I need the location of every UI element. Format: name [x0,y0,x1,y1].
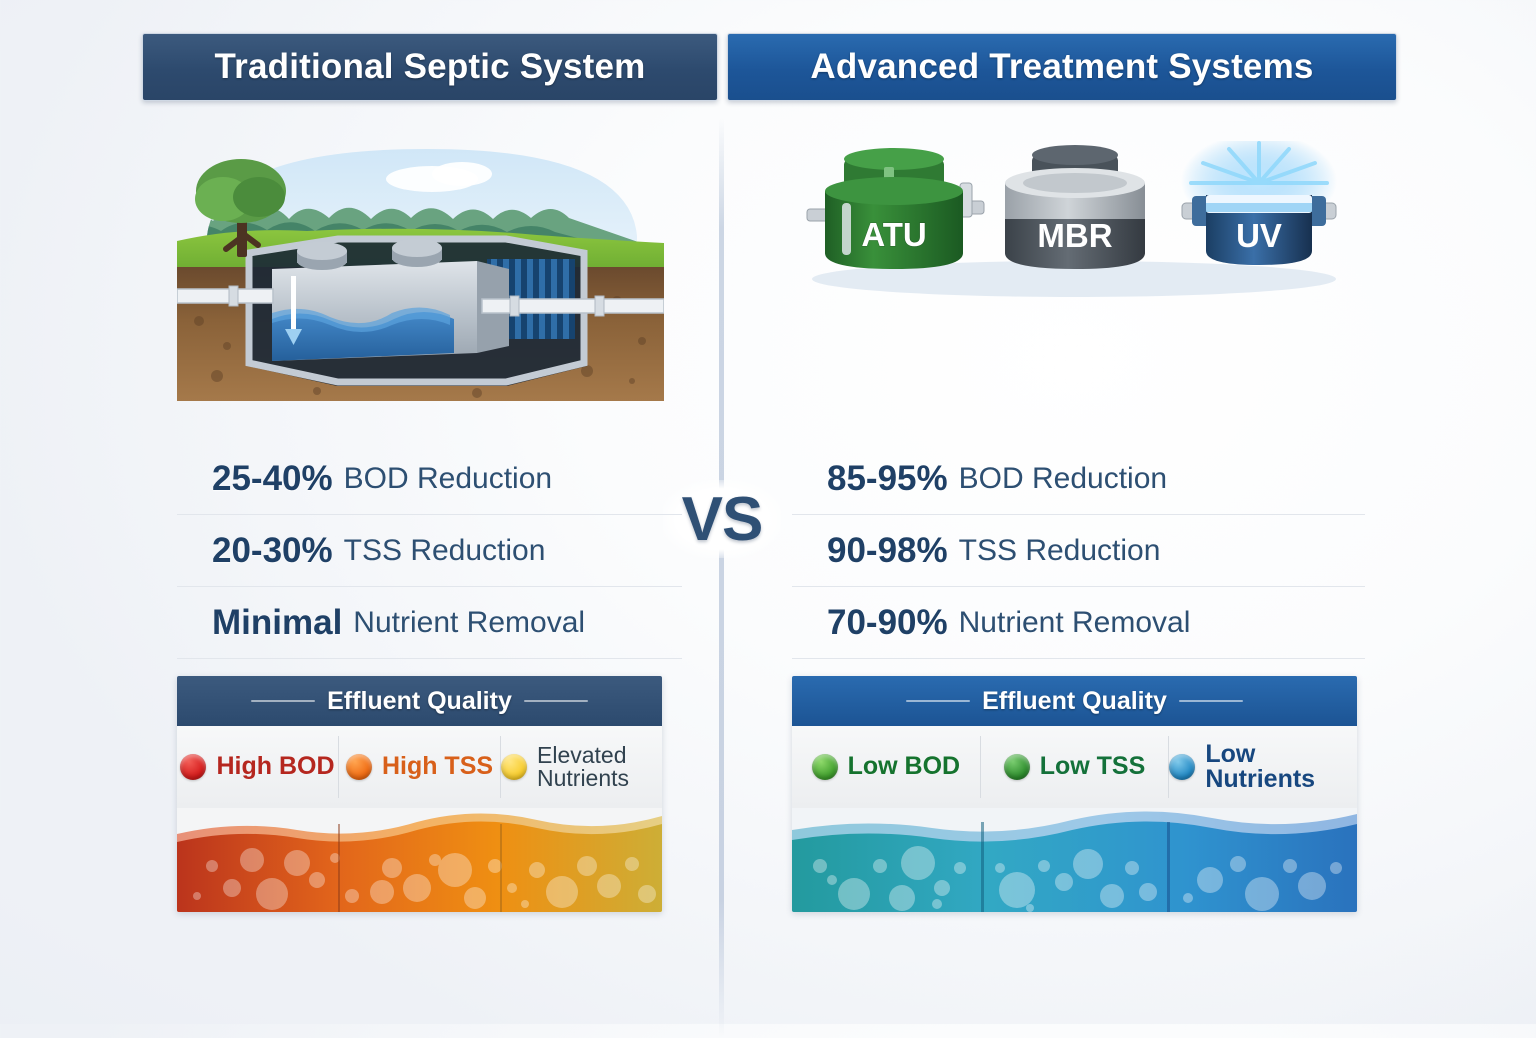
stat-row: 90-98% TSS Reduction [792,515,1365,587]
right-column-header: Advanced Treatment Systems [727,33,1397,101]
legend-item: Low Nutrients [1168,736,1357,798]
status-dot-icon [1004,754,1030,780]
stat-value: 70-90% [827,603,948,643]
status-dot-icon [812,754,838,780]
uv-label: UV [1236,217,1282,254]
left-column-title: Traditional Septic System [215,47,646,87]
effluent-legend: Low BOD Low TSS Low Nutrients [792,726,1357,808]
stat-row: 25-40% BOD Reduction [177,443,682,515]
legend-item: Low TSS [980,736,1169,798]
effluent-quality-title: Effluent Quality [327,687,512,716]
left-column-header: Traditional Septic System [142,33,718,101]
stat-row: Minimal Nutrient Removal [177,587,682,659]
status-dot-icon [180,754,206,780]
stat-value: 90-98% [827,531,948,571]
rule-right [1179,700,1243,702]
effluent-quality-title: Effluent Quality [982,687,1167,716]
right-effluent-quality-card: Effluent Quality Low BOD Low TSS Low Nut… [792,676,1357,912]
rule-left [251,700,315,702]
legend-label: Elevated Nutrients [537,744,662,791]
stat-value: Minimal [212,603,342,643]
stat-label: Nutrient Removal [353,606,585,640]
left-effluent-quality-card: Effluent Quality High BOD High TSS Eleva… [177,676,662,912]
status-dot-icon [346,754,372,780]
right-column-title: Advanced Treatment Systems [810,47,1313,87]
legend-label: High TSS [382,754,493,780]
status-dot-icon [1169,754,1195,780]
stat-label: BOD Reduction [959,462,1167,496]
status-dot-icon [501,754,527,780]
legend-item: High BOD [177,736,338,798]
rule-right [524,700,588,702]
stat-value: 20-30% [212,531,333,571]
legend-label: High BOD [216,754,334,780]
stat-row: 20-30% TSS Reduction [177,515,682,587]
septic-tank-illustration [177,141,664,401]
rule-left [906,700,970,702]
stat-row: 70-90% Nutrient Removal [792,587,1365,659]
legend-item: Low BOD [792,736,980,798]
effluent-water-band [792,808,1357,912]
legend-item: Elevated Nutrients [500,736,662,798]
legend-label: Low BOD [848,754,961,780]
stat-label: Nutrient Removal [959,606,1191,640]
stat-label: TSS Reduction [344,534,546,568]
legend-item: High TSS [338,736,500,798]
vs-label: VS [682,484,763,555]
stat-value: 25-40% [212,459,333,499]
stat-label: TSS Reduction [959,534,1161,568]
mbr-label: MBR [1037,217,1112,254]
effluent-quality-header: Effluent Quality [792,676,1357,726]
left-stats-list: 25-40% BOD Reduction 20-30% TSS Reductio… [177,443,682,659]
infographic-canvas: Traditional Septic System Advanced Treat… [0,0,1536,1024]
atu-label: ATU [861,216,926,253]
treatment-equipment-illustration: ATU MBR [792,141,1357,301]
right-stats-list: 85-95% BOD Reduction 90-98% TSS Reductio… [792,443,1365,659]
column-divider [719,118,724,1038]
effluent-water-band [177,808,662,912]
stat-label: BOD Reduction [344,462,552,496]
effluent-legend: High BOD High TSS Elevated Nutrients [177,726,662,808]
effluent-quality-header: Effluent Quality [177,676,662,726]
stat-row: 85-95% BOD Reduction [792,443,1365,515]
legend-label: Low Nutrients [1205,742,1357,793]
legend-label: Low TSS [1040,754,1146,780]
stat-value: 85-95% [827,459,948,499]
